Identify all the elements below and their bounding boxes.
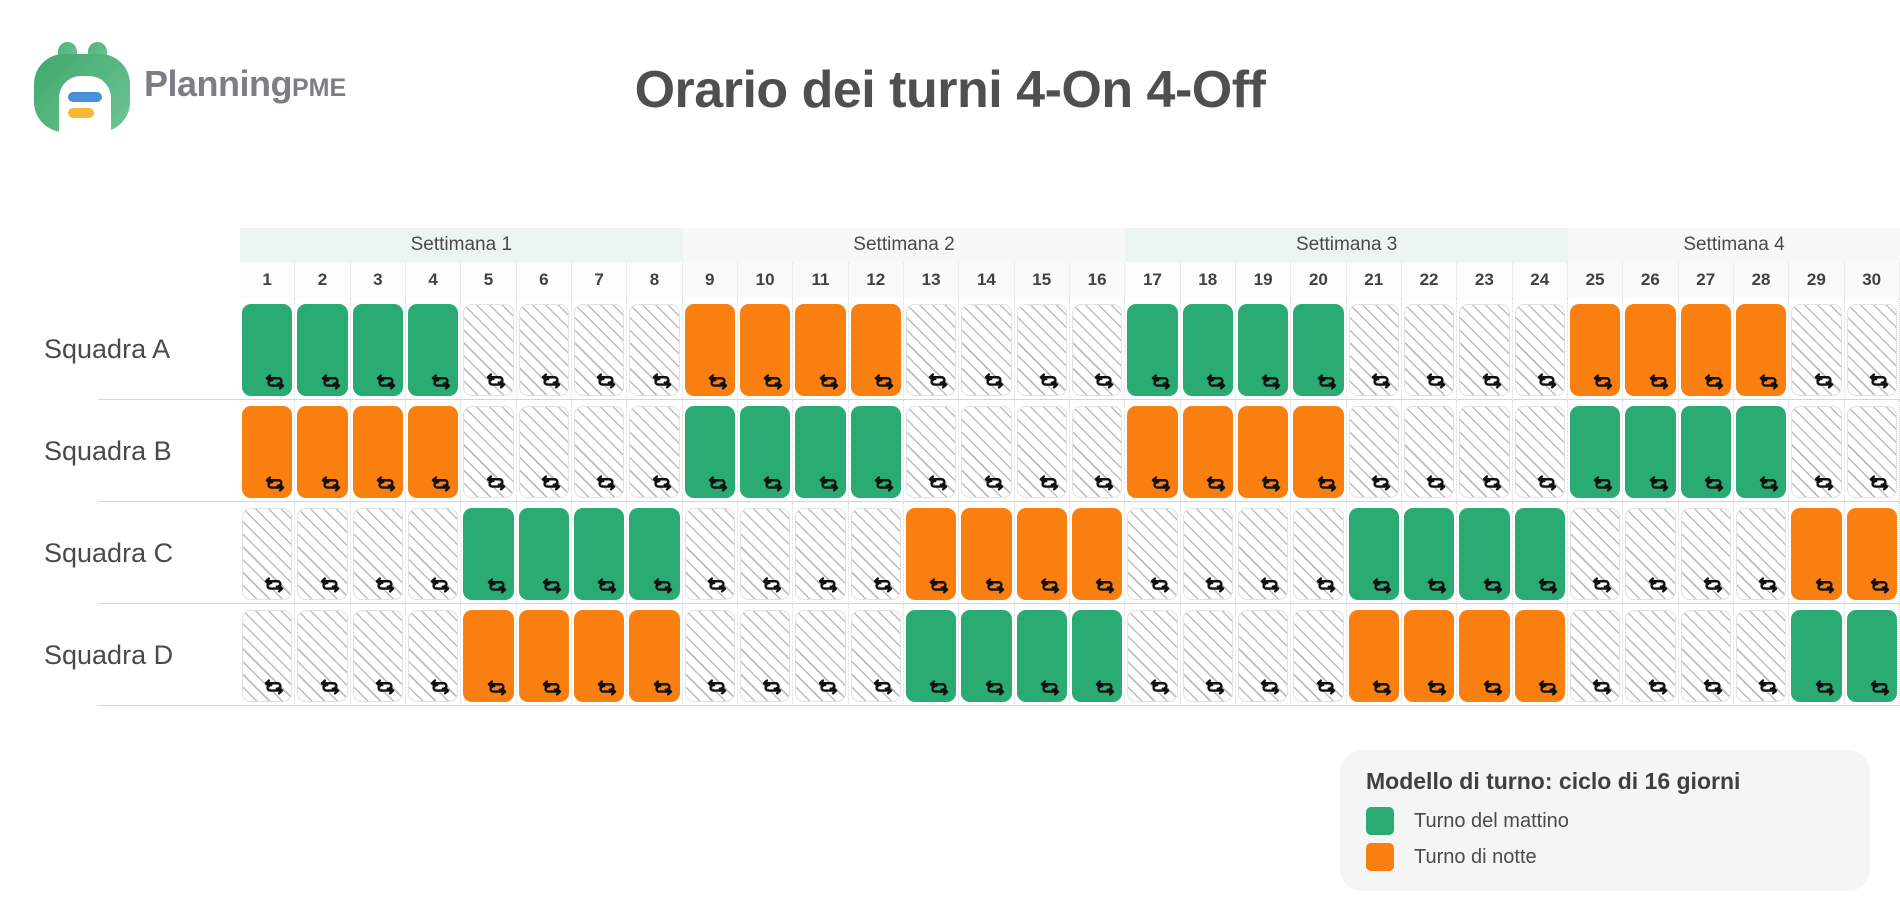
shift-cell[interactable] xyxy=(1070,298,1125,400)
shift-block-off[interactable] xyxy=(1404,406,1454,498)
shift-cell[interactable] xyxy=(683,298,738,400)
schedule-grid: Settimana 1Settimana 2Settimana 3Settima… xyxy=(0,228,1900,706)
shift-block-night[interactable] xyxy=(685,304,735,396)
shift-block-off[interactable] xyxy=(1349,406,1399,498)
shift-cell[interactable] xyxy=(849,604,904,706)
cycle-arrows-icon xyxy=(595,471,617,493)
shift-block-off[interactable] xyxy=(1183,610,1233,702)
cycle-arrows-icon xyxy=(429,573,451,595)
day-number: 16 xyxy=(1070,262,1125,298)
shift-block-off[interactable] xyxy=(906,304,956,396)
shift-cell[interactable] xyxy=(1125,400,1180,502)
shift-block-off[interactable] xyxy=(574,304,624,396)
shift-block-off[interactable] xyxy=(961,406,1011,498)
shift-block-off[interactable] xyxy=(1515,304,1565,396)
shift-cell[interactable] xyxy=(904,298,959,400)
shift-cell[interactable] xyxy=(517,298,572,400)
shift-cell[interactable] xyxy=(1789,502,1844,604)
shift-block-morning[interactable] xyxy=(1293,304,1343,396)
shift-block-morning[interactable] xyxy=(1404,508,1454,600)
cycle-arrows-icon xyxy=(1814,574,1836,596)
shift-cell[interactable] xyxy=(295,400,350,502)
shift-block-morning[interactable] xyxy=(1625,406,1675,498)
shift-cell[interactable] xyxy=(461,400,516,502)
shift-cell[interactable] xyxy=(904,604,959,706)
shift-cell[interactable] xyxy=(1679,400,1734,502)
shift-block-off[interactable] xyxy=(1238,610,1288,702)
shift-block-night[interactable] xyxy=(1681,304,1731,396)
page-header: PlanningPME Orario dei turni 4-On 4-Off xyxy=(0,0,1900,180)
shift-cell[interactable] xyxy=(406,604,461,706)
shift-cell[interactable] xyxy=(1236,604,1291,706)
shift-cell[interactable] xyxy=(627,400,682,502)
cycle-arrows-icon xyxy=(430,370,452,392)
shift-cell[interactable] xyxy=(1623,298,1678,400)
shift-block-off[interactable] xyxy=(685,508,735,600)
shift-block-off[interactable] xyxy=(1293,610,1343,702)
shift-cell[interactable] xyxy=(1513,298,1568,400)
shift-cell[interactable] xyxy=(793,400,848,502)
shift-cell[interactable] xyxy=(1568,502,1623,604)
day-number: 22 xyxy=(1402,262,1457,298)
shift-cell[interactable] xyxy=(683,400,738,502)
shift-block-night[interactable] xyxy=(242,406,292,498)
shift-block-night[interactable] xyxy=(629,610,679,702)
shift-block-night[interactable] xyxy=(1072,508,1122,600)
day-number: 8 xyxy=(627,262,682,298)
cycle-arrows-icon xyxy=(1316,370,1338,392)
cycle-arrows-icon xyxy=(1868,471,1890,493)
shift-cell[interactable] xyxy=(461,604,516,706)
shift-cell[interactable] xyxy=(517,604,572,706)
shift-cell[interactable] xyxy=(406,400,461,502)
shift-cell[interactable] xyxy=(351,502,406,604)
legend-label: Turno del mattino xyxy=(1414,810,1569,833)
shift-block-off[interactable] xyxy=(574,406,624,498)
cycle-arrows-icon xyxy=(1426,574,1448,596)
shift-cell[interactable] xyxy=(351,400,406,502)
shift-cell[interactable] xyxy=(959,400,1014,502)
shift-block-off[interactable] xyxy=(1072,304,1122,396)
shift-block-morning[interactable] xyxy=(1183,304,1233,396)
shift-block-off[interactable] xyxy=(1847,304,1897,396)
shift-block-off[interactable] xyxy=(1017,304,1067,396)
shift-cell[interactable] xyxy=(1181,400,1236,502)
cycle-arrows-icon xyxy=(1758,370,1780,392)
shift-cell[interactable] xyxy=(1236,400,1291,502)
shift-block-off[interactable] xyxy=(297,508,347,600)
shift-block-night[interactable] xyxy=(574,610,624,702)
shift-cell[interactable] xyxy=(1181,298,1236,400)
shift-block-morning[interactable] xyxy=(961,610,1011,702)
shift-block-morning[interactable] xyxy=(740,406,790,498)
cycle-arrows-icon xyxy=(1259,573,1281,595)
shift-cell[interactable] xyxy=(240,298,295,400)
cycle-arrows-icon xyxy=(1038,369,1060,391)
shift-block-off[interactable] xyxy=(740,610,790,702)
shift-cell[interactable] xyxy=(461,502,516,604)
shift-block-off[interactable] xyxy=(519,406,569,498)
shift-block-off[interactable] xyxy=(1293,508,1343,600)
shift-block-morning[interactable] xyxy=(851,406,901,498)
shift-cell[interactable] xyxy=(406,298,461,400)
shift-cell[interactable] xyxy=(406,502,461,604)
shift-cell[interactable] xyxy=(351,298,406,400)
shift-cell[interactable] xyxy=(627,298,682,400)
shift-cell[interactable] xyxy=(1236,298,1291,400)
shift-cell[interactable] xyxy=(1125,502,1180,604)
shift-cell[interactable] xyxy=(1734,400,1789,502)
shift-block-off[interactable] xyxy=(1570,508,1620,600)
shift-block-night[interactable] xyxy=(906,508,956,600)
shift-block-off[interactable] xyxy=(1791,406,1841,498)
shift-block-off[interactable] xyxy=(1736,610,1786,702)
shift-cell[interactable] xyxy=(1457,298,1512,400)
shift-block-off[interactable] xyxy=(629,406,679,498)
shift-block-off[interactable] xyxy=(408,610,458,702)
cycle-arrows-icon xyxy=(1482,676,1504,698)
shift-cell[interactable] xyxy=(1070,604,1125,706)
shift-cell[interactable] xyxy=(738,502,793,604)
shift-cell[interactable] xyxy=(1845,604,1900,706)
cycle-arrows-icon xyxy=(596,574,618,596)
shift-cell[interactable] xyxy=(1513,400,1568,502)
shift-cell[interactable] xyxy=(1070,502,1125,604)
shift-block-off[interactable] xyxy=(242,610,292,702)
shift-cell[interactable] xyxy=(1789,298,1844,400)
shift-block-off[interactable] xyxy=(851,610,901,702)
shift-block-off[interactable] xyxy=(1625,610,1675,702)
shift-block-off[interactable] xyxy=(463,406,513,498)
shift-block-off[interactable] xyxy=(851,508,901,600)
shift-cell[interactable] xyxy=(793,502,848,604)
shift-block-morning[interactable] xyxy=(408,304,458,396)
shift-block-night[interactable] xyxy=(463,610,513,702)
shift-cell[interactable] xyxy=(1845,400,1900,502)
shift-block-night[interactable] xyxy=(353,406,403,498)
shift-block-off[interactable] xyxy=(685,610,735,702)
shift-block-off[interactable] xyxy=(1847,406,1897,498)
cycle-arrows-icon xyxy=(873,472,895,494)
day-number: 18 xyxy=(1181,262,1236,298)
shift-cell[interactable] xyxy=(1291,502,1346,604)
cycle-arrows-icon xyxy=(761,675,783,697)
day-number: 1 xyxy=(240,262,295,298)
morning-shift-swatch-icon xyxy=(1366,807,1394,835)
shift-cell[interactable] xyxy=(572,298,627,400)
shift-cell[interactable] xyxy=(1402,400,1457,502)
shift-cell[interactable] xyxy=(738,604,793,706)
shift-cell[interactable] xyxy=(1623,502,1678,604)
cycle-arrows-icon xyxy=(1647,675,1669,697)
shift-block-night[interactable] xyxy=(740,304,790,396)
shift-block-off[interactable] xyxy=(1127,610,1177,702)
shift-cell[interactable] xyxy=(904,502,959,604)
shift-block-morning[interactable] xyxy=(297,304,347,396)
shift-cell[interactable] xyxy=(1402,298,1457,400)
shift-cell[interactable] xyxy=(849,298,904,400)
shift-block-off[interactable] xyxy=(463,304,513,396)
shift-block-off[interactable] xyxy=(1017,406,1067,498)
week-header-spacer xyxy=(0,228,240,262)
shift-block-off[interactable] xyxy=(242,508,292,600)
shift-block-off[interactable] xyxy=(1072,406,1122,498)
shift-block-night[interactable] xyxy=(1791,508,1841,600)
day-header-spacer xyxy=(0,262,240,298)
shift-block-night[interactable] xyxy=(1017,508,1067,600)
day-numbers: 1234567891011121314151617181920212223242… xyxy=(240,262,1900,298)
shift-cell[interactable] xyxy=(1734,502,1789,604)
day-number: 26 xyxy=(1623,262,1678,298)
cycle-arrows-icon xyxy=(1260,472,1282,494)
shift-cell[interactable] xyxy=(1015,298,1070,400)
shift-cell[interactable] xyxy=(1623,400,1678,502)
shift-cell[interactable] xyxy=(1015,400,1070,502)
shift-cell[interactable] xyxy=(295,502,350,604)
shift-block-night[interactable] xyxy=(297,406,347,498)
shift-cell[interactable] xyxy=(240,604,295,706)
shift-block-morning[interactable] xyxy=(574,508,624,600)
shift-block-night[interactable] xyxy=(1515,610,1565,702)
shift-block-night[interactable] xyxy=(795,304,845,396)
shift-block-off[interactable] xyxy=(1625,508,1675,600)
shift-block-morning[interactable] xyxy=(1515,508,1565,600)
shift-block-off[interactable] xyxy=(1127,508,1177,600)
shift-cell[interactable] xyxy=(1789,604,1844,706)
team-row-label: Squadra B xyxy=(0,400,240,502)
shift-block-off[interactable] xyxy=(1459,406,1509,498)
shift-cell[interactable] xyxy=(1402,502,1457,604)
shift-cell[interactable] xyxy=(240,400,295,502)
shift-cell[interactable] xyxy=(959,298,1014,400)
shift-cell[interactable] xyxy=(793,604,848,706)
shift-block-night[interactable] xyxy=(1736,304,1786,396)
shift-cell[interactable] xyxy=(1347,298,1402,400)
cycle-arrows-icon xyxy=(1316,472,1338,494)
shift-cell[interactable] xyxy=(1568,604,1623,706)
shift-cell[interactable] xyxy=(1457,604,1512,706)
shift-block-morning[interactable] xyxy=(1127,304,1177,396)
shift-block-off[interactable] xyxy=(1238,508,1288,600)
cycle-arrows-icon xyxy=(1591,675,1613,697)
shift-block-off[interactable] xyxy=(1515,406,1565,498)
shift-cell[interactable] xyxy=(1291,400,1346,502)
shift-block-off[interactable] xyxy=(961,304,1011,396)
shift-cell[interactable] xyxy=(1457,502,1512,604)
cycle-arrows-icon xyxy=(1592,472,1614,494)
shift-block-off[interactable] xyxy=(1791,304,1841,396)
shift-cell[interactable] xyxy=(849,400,904,502)
shift-block-night[interactable] xyxy=(961,508,1011,600)
shift-block-night[interactable] xyxy=(1293,406,1343,498)
shift-block-off[interactable] xyxy=(795,508,845,600)
shift-cell[interactable] xyxy=(1568,298,1623,400)
shift-block-morning[interactable] xyxy=(685,406,735,498)
shift-cell[interactable] xyxy=(1015,604,1070,706)
shift-cell[interactable] xyxy=(1513,502,1568,604)
shift-block-off[interactable] xyxy=(1570,610,1620,702)
shift-cell[interactable] xyxy=(461,298,516,400)
cycle-arrows-icon xyxy=(1149,573,1171,595)
cycle-arrows-icon xyxy=(263,675,285,697)
shift-cell[interactable] xyxy=(1679,604,1734,706)
shift-block-morning[interactable] xyxy=(906,610,956,702)
cycle-arrows-icon xyxy=(1537,676,1559,698)
shift-block-off[interactable] xyxy=(1404,304,1454,396)
shift-cell[interactable] xyxy=(627,604,682,706)
shift-block-off[interactable] xyxy=(297,610,347,702)
shift-cell[interactable] xyxy=(1181,604,1236,706)
shift-cell[interactable] xyxy=(793,298,848,400)
shift-block-morning[interactable] xyxy=(795,406,845,498)
shift-cell[interactable] xyxy=(1291,298,1346,400)
shift-cell[interactable] xyxy=(1070,400,1125,502)
shift-cell[interactable] xyxy=(1402,604,1457,706)
shift-block-morning[interactable] xyxy=(353,304,403,396)
shift-block-off[interactable] xyxy=(1183,508,1233,600)
shift-cell[interactable] xyxy=(683,604,738,706)
shift-cell[interactable] xyxy=(738,400,793,502)
shift-block-morning[interactable] xyxy=(1570,406,1620,498)
day-number: 24 xyxy=(1513,262,1568,298)
shift-block-morning[interactable] xyxy=(1736,406,1786,498)
shift-block-off[interactable] xyxy=(740,508,790,600)
shift-cell[interactable] xyxy=(904,400,959,502)
shift-block-morning[interactable] xyxy=(1681,406,1731,498)
shift-block-off[interactable] xyxy=(353,610,403,702)
shift-block-night[interactable] xyxy=(1127,406,1177,498)
cycle-arrows-icon xyxy=(485,369,507,391)
shift-cells xyxy=(240,502,1900,604)
legend-item: Turno del mattino xyxy=(1366,807,1844,835)
shift-block-night[interactable] xyxy=(1183,406,1233,498)
shift-block-night[interactable] xyxy=(1238,406,1288,498)
shift-block-off[interactable] xyxy=(1736,508,1786,600)
shift-block-night[interactable] xyxy=(1625,304,1675,396)
cycle-arrows-icon xyxy=(927,369,949,391)
shift-block-morning[interactable] xyxy=(1017,610,1067,702)
shift-block-night[interactable] xyxy=(1404,610,1454,702)
shift-cell[interactable] xyxy=(959,502,1014,604)
shift-block-off[interactable] xyxy=(906,406,956,498)
cycle-arrows-icon xyxy=(872,675,894,697)
shift-block-off[interactable] xyxy=(353,508,403,600)
shift-block-off[interactable] xyxy=(408,508,458,600)
shift-cell[interactable] xyxy=(1734,604,1789,706)
shift-block-morning[interactable] xyxy=(1791,610,1841,702)
shift-cell[interactable] xyxy=(572,400,627,502)
cycle-arrows-icon xyxy=(1757,675,1779,697)
cycle-arrows-icon xyxy=(1204,573,1226,595)
shift-cell[interactable] xyxy=(1347,604,1402,706)
shift-block-morning[interactable] xyxy=(1349,508,1399,600)
shift-cell[interactable] xyxy=(1623,604,1678,706)
shift-block-morning[interactable] xyxy=(629,508,679,600)
cycle-arrows-icon xyxy=(1648,370,1670,392)
shift-block-morning[interactable] xyxy=(242,304,292,396)
cycle-arrows-icon xyxy=(651,471,673,493)
shift-block-off[interactable] xyxy=(629,304,679,396)
shift-block-morning[interactable] xyxy=(463,508,513,600)
cycle-arrows-icon xyxy=(651,369,673,391)
shift-cell[interactable] xyxy=(627,502,682,604)
cycle-arrows-icon xyxy=(1481,369,1503,391)
cycle-arrows-icon xyxy=(1150,472,1172,494)
shift-cell[interactable] xyxy=(1513,604,1568,706)
shift-cell[interactable] xyxy=(517,400,572,502)
shift-block-morning[interactable] xyxy=(1459,508,1509,600)
shift-block-morning[interactable] xyxy=(1072,610,1122,702)
shift-block-off[interactable] xyxy=(519,304,569,396)
shift-cell[interactable] xyxy=(1734,298,1789,400)
cycle-arrows-icon xyxy=(486,676,508,698)
shift-cell[interactable] xyxy=(351,604,406,706)
shift-cell[interactable] xyxy=(572,604,627,706)
shift-cell[interactable] xyxy=(1789,400,1844,502)
shift-cell[interactable] xyxy=(240,502,295,604)
shift-cell[interactable] xyxy=(959,604,1014,706)
shift-cell[interactable] xyxy=(1679,502,1734,604)
shift-cell[interactable] xyxy=(1679,298,1734,400)
shift-block-off[interactable] xyxy=(1681,508,1731,600)
day-number: 3 xyxy=(351,262,406,298)
shift-block-night[interactable] xyxy=(851,304,901,396)
shift-block-night[interactable] xyxy=(1349,610,1399,702)
day-number: 28 xyxy=(1734,262,1789,298)
shift-cell[interactable] xyxy=(295,298,350,400)
shift-block-night[interactable] xyxy=(1459,610,1509,702)
cycle-arrows-icon xyxy=(1094,574,1116,596)
shift-cell[interactable] xyxy=(1457,400,1512,502)
shift-cell[interactable] xyxy=(1347,502,1402,604)
shift-cell[interactable] xyxy=(1291,604,1346,706)
shift-cell[interactable] xyxy=(1181,502,1236,604)
day-number: 5 xyxy=(461,262,516,298)
shift-block-off[interactable] xyxy=(1349,304,1399,396)
shift-cell[interactable] xyxy=(295,604,350,706)
shift-block-night[interactable] xyxy=(1570,304,1620,396)
shift-cell[interactable] xyxy=(572,502,627,604)
cycle-arrows-icon xyxy=(264,370,286,392)
shift-cell[interactable] xyxy=(683,502,738,604)
shift-cell[interactable] xyxy=(1125,298,1180,400)
shift-cell[interactable] xyxy=(1125,604,1180,706)
cycle-arrows-icon xyxy=(319,573,341,595)
shift-cell[interactable] xyxy=(1347,400,1402,502)
cycle-arrows-icon xyxy=(1592,370,1614,392)
shift-cell[interactable] xyxy=(1845,298,1900,400)
shift-block-night[interactable] xyxy=(408,406,458,498)
shift-cell[interactable] xyxy=(1015,502,1070,604)
shift-cell[interactable] xyxy=(738,298,793,400)
shift-cell[interactable] xyxy=(517,502,572,604)
shift-block-morning[interactable] xyxy=(519,508,569,600)
cycle-arrows-icon xyxy=(541,574,563,596)
shift-block-morning[interactable] xyxy=(1238,304,1288,396)
shift-block-night[interactable] xyxy=(519,610,569,702)
shift-block-off[interactable] xyxy=(1459,304,1509,396)
shift-cell[interactable] xyxy=(1236,502,1291,604)
shift-cell[interactable] xyxy=(849,502,904,604)
cycle-arrows-icon xyxy=(1371,676,1393,698)
shift-block-off[interactable] xyxy=(1681,610,1731,702)
shift-block-off[interactable] xyxy=(795,610,845,702)
shift-block-morning[interactable] xyxy=(1847,610,1897,702)
cycle-arrows-icon xyxy=(540,471,562,493)
shift-cell[interactable] xyxy=(1568,400,1623,502)
shift-cell[interactable] xyxy=(1845,502,1900,604)
shift-block-night[interactable] xyxy=(1847,508,1897,600)
